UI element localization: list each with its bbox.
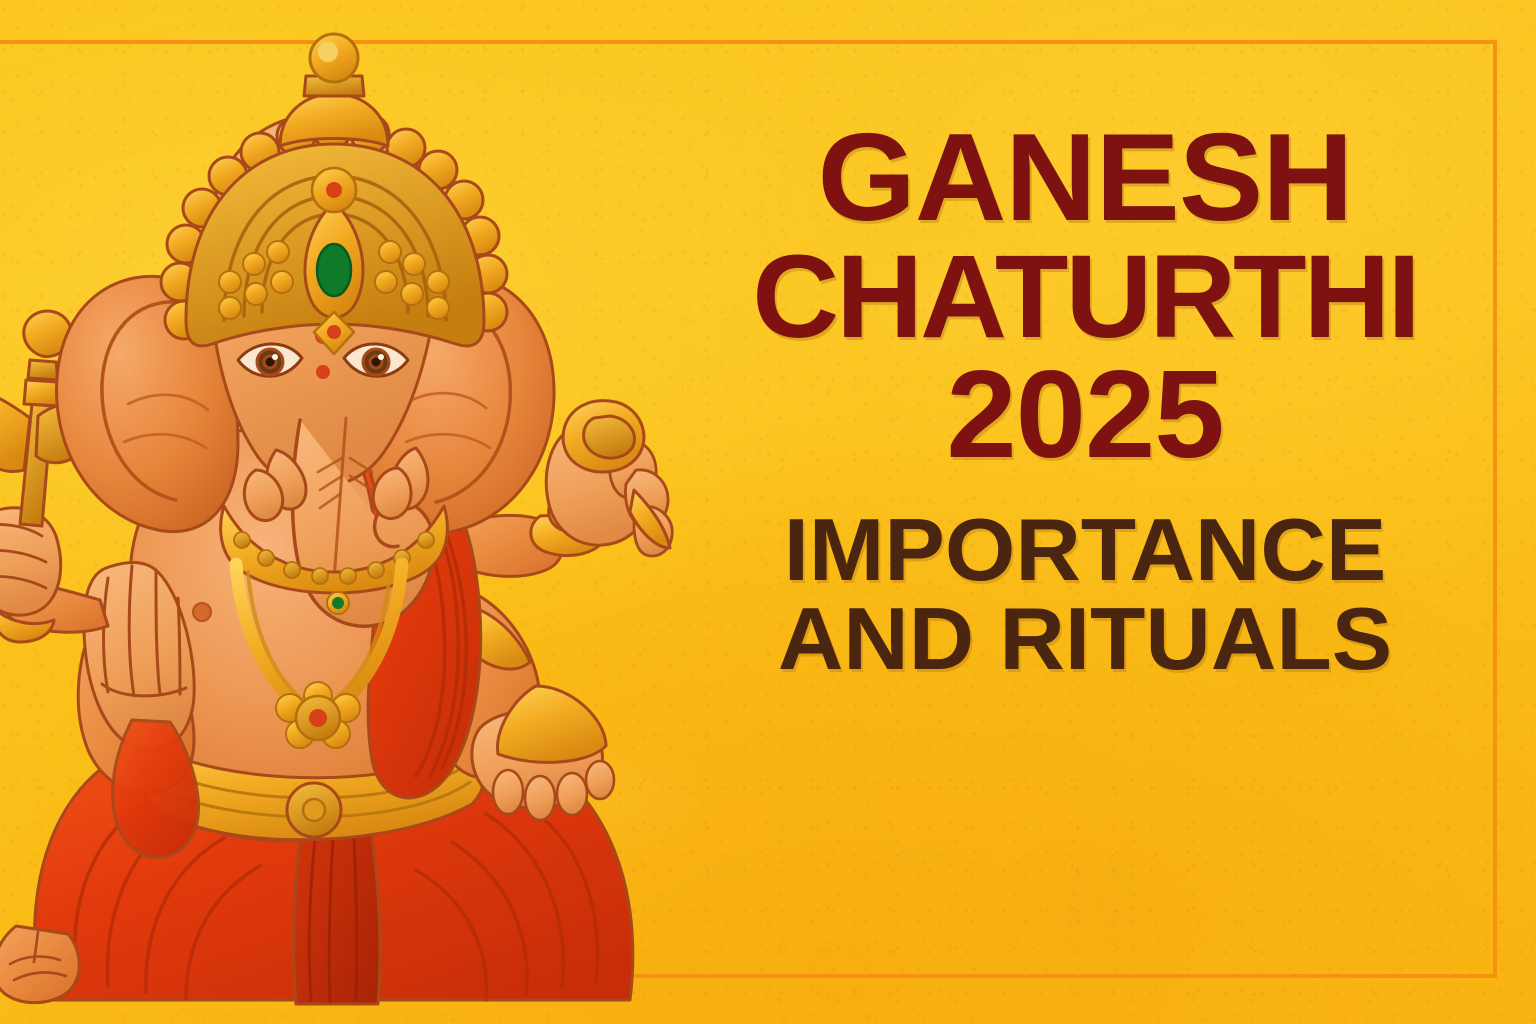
subtitle-line-2: AND RITUALS <box>678 594 1492 684</box>
headline-line-2: CHATURTHI <box>682 240 1488 356</box>
crown-green-gem <box>317 244 351 296</box>
headline-line-1: GANESH <box>817 109 1352 247</box>
headline-line-3: 2025 <box>682 355 1488 477</box>
ganesh-chaturthi-poster: GANESH CHATURTHI 2025 IMPORTANCE AND RIT… <box>0 0 1536 1024</box>
page-title: GANESH CHATURTHI 2025 <box>682 118 1488 477</box>
subtitle-line-1: IMPORTANCE <box>678 505 1492 595</box>
ganesha-illustration <box>0 20 700 1024</box>
crown-dome <box>280 94 388 146</box>
frame-border-right <box>1493 40 1497 978</box>
poster-text-block: GANESH CHATURTHI 2025 IMPORTANCE AND RIT… <box>690 118 1480 684</box>
page-subtitle: IMPORTANCE AND RITUALS <box>678 505 1492 685</box>
